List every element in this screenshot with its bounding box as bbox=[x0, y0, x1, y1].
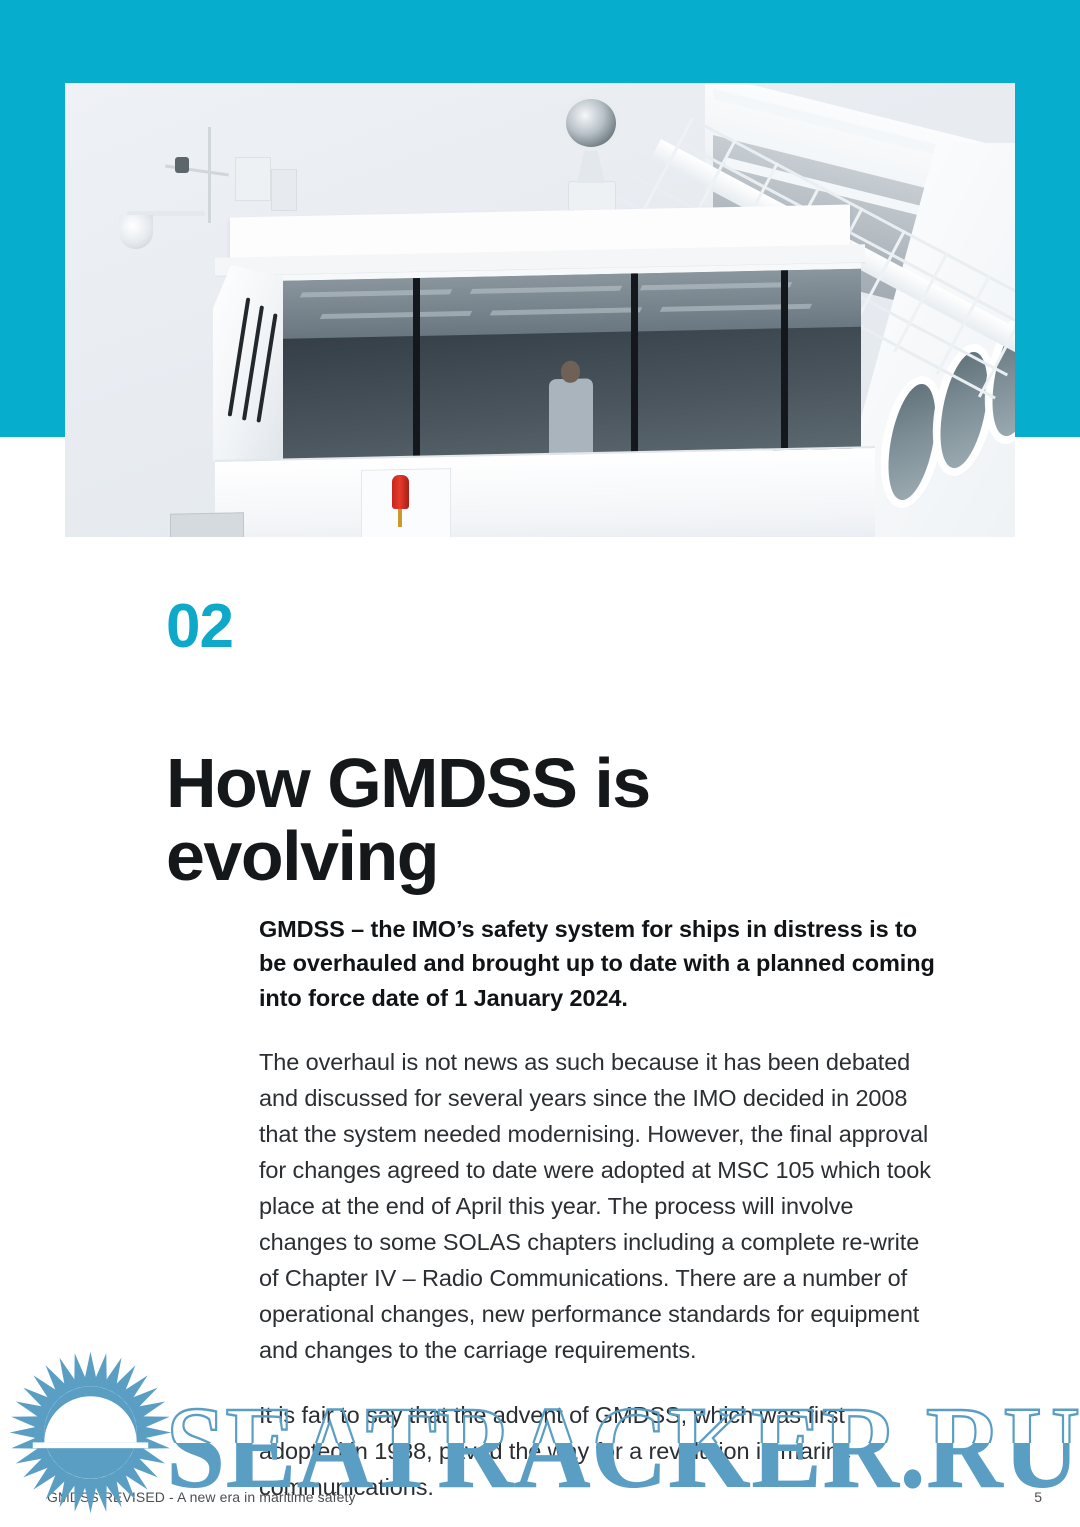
ceiling-strip bbox=[490, 307, 642, 315]
searchlight-base bbox=[568, 181, 616, 211]
sensor-housing bbox=[235, 157, 271, 201]
page-number: 5 bbox=[1034, 1489, 1042, 1505]
searchlight bbox=[562, 95, 620, 151]
ceiling-strip bbox=[470, 286, 622, 294]
fire-extinguisher bbox=[392, 475, 409, 509]
document-page: 02 How GMDSS is evolving GMDSS – the IMO… bbox=[0, 0, 1080, 1527]
extinguisher-hose bbox=[398, 507, 402, 527]
ceiling-strip bbox=[660, 304, 812, 312]
officer-on-watch-head bbox=[561, 361, 580, 383]
body-paragraph: It is fair to say that the advent of GMD… bbox=[259, 1398, 935, 1506]
body-paragraph: The overhaul is not news as such because… bbox=[259, 1045, 935, 1369]
deck-hatch bbox=[170, 512, 244, 537]
sensor-housing bbox=[271, 169, 297, 211]
officer-on-watch-body bbox=[549, 378, 593, 457]
antenna-mast bbox=[208, 127, 211, 223]
antenna-sensor-icon bbox=[175, 157, 189, 173]
cctv-dome-camera bbox=[119, 215, 153, 249]
bridge-wing-deck bbox=[215, 446, 875, 537]
lede-paragraph: GMDSS – the IMO’s safety system for ship… bbox=[259, 912, 935, 1015]
footer-document-title: GMDSS REVISED - A new era in maritime sa… bbox=[47, 1489, 356, 1505]
bridge-ceiling bbox=[261, 269, 861, 340]
ceiling-strip bbox=[640, 282, 792, 290]
chapter-number: 02 bbox=[166, 596, 233, 658]
bridge-windows bbox=[261, 263, 861, 460]
window-mullion bbox=[631, 273, 638, 451]
bridge-wing-nose bbox=[213, 265, 283, 461]
window-mullion bbox=[413, 278, 420, 456]
body-column: GMDSS – the IMO’s safety system for ship… bbox=[259, 912, 935, 1527]
window-mullion bbox=[781, 270, 788, 448]
ceiling-strip bbox=[300, 289, 452, 297]
page-title: How GMDSS is evolving bbox=[166, 747, 786, 893]
ceiling-strip bbox=[320, 311, 472, 319]
hero-photograph bbox=[65, 83, 1015, 537]
